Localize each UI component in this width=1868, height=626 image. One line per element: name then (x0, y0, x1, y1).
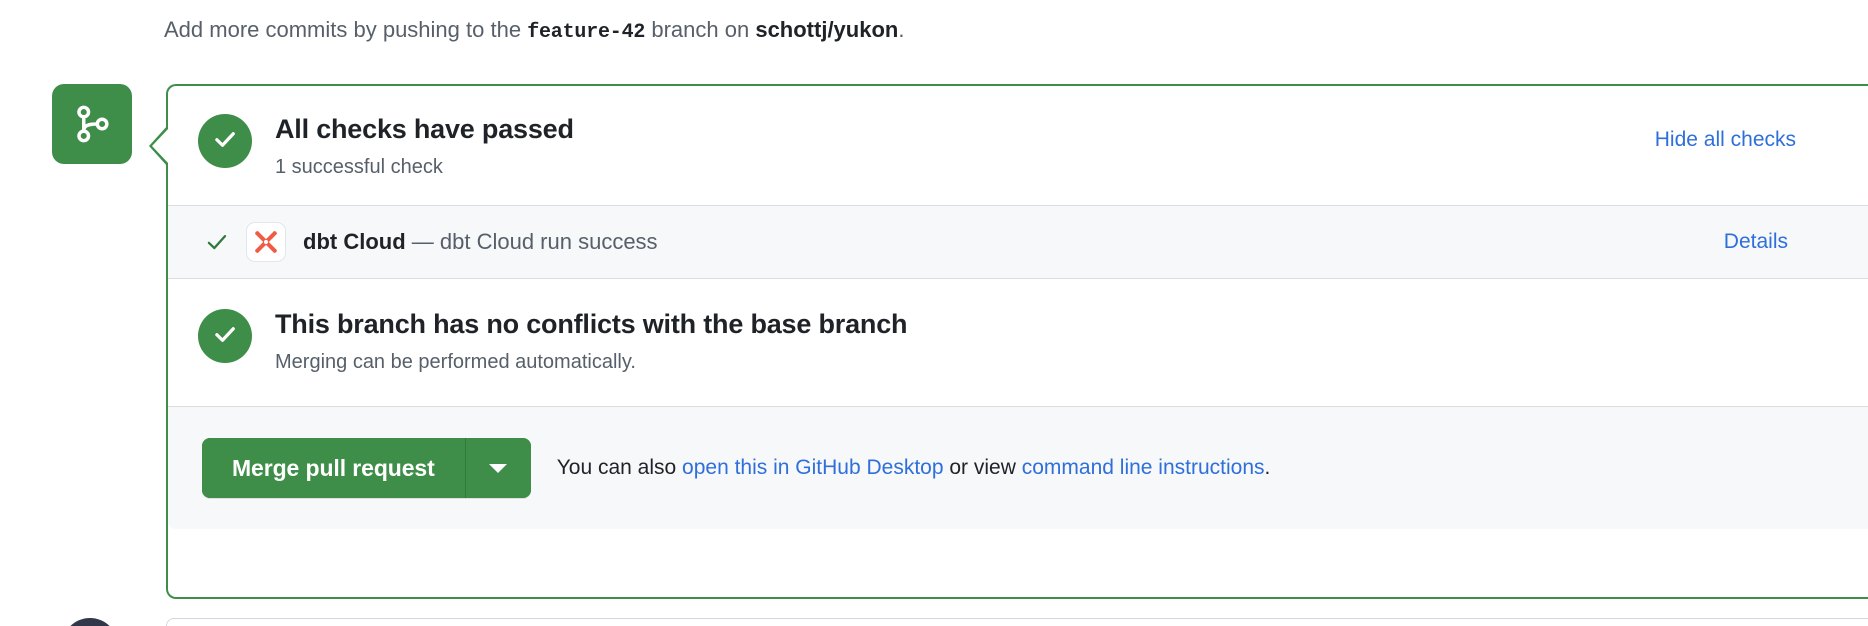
conflicts-text-block: This branch has no conflicts with the ba… (275, 307, 907, 376)
git-merge-icon (70, 102, 114, 146)
hide-all-checks-link[interactable]: Hide all checks (1655, 128, 1796, 152)
no-conflicts-section: This branch has no conflicts with the ba… (168, 279, 1868, 406)
footer-note-middle: or view (949, 456, 1016, 479)
checks-success-circle (198, 114, 252, 168)
check-icon (210, 319, 240, 354)
push-hint-middle: branch on (651, 17, 749, 42)
conflicts-subtitle: Merging can be performed automatically. (275, 349, 907, 376)
callout-arrow-fill (152, 128, 169, 164)
merge-action-footer: Merge pull request You can also open thi… (168, 407, 1868, 529)
next-timeline-panel (166, 618, 1868, 626)
check-separator: — (412, 229, 434, 254)
branch-name: feature-42 (527, 21, 645, 44)
checks-title: All checks have passed (275, 112, 574, 146)
pull-request-merge-box-page: Add more commits by pushing to the featu… (0, 0, 1868, 626)
conflicts-title: This branch has no conflicts with the ba… (275, 307, 907, 341)
check-row[interactable]: dbt Cloud — dbt Cloud run success Detail… (168, 206, 1868, 278)
merge-button-group: Merge pull request (202, 438, 531, 498)
check-icon (204, 229, 230, 255)
open-in-github-desktop-link[interactable]: open this in GitHub Desktop (682, 456, 943, 479)
check-context-name: dbt Cloud (303, 229, 406, 254)
merge-footer-note: You can also open this in GitHub Desktop… (557, 454, 1271, 482)
avatar[interactable] (62, 618, 118, 626)
conflicts-success-circle (198, 309, 252, 363)
push-hint-suffix: . (898, 17, 904, 42)
merge-dropdown-button[interactable] (465, 438, 531, 498)
dbt-cloud-icon (247, 223, 285, 261)
merge-status-box: All checks have passed 1 successful chec… (166, 84, 1868, 599)
git-merge-state-icon (52, 84, 132, 164)
checks-subtitle: 1 successful check (275, 154, 574, 181)
check-details-link[interactable]: Details (1724, 230, 1788, 254)
footer-note-prefix: You can also (557, 456, 677, 479)
command-line-instructions-link[interactable]: command line instructions (1022, 456, 1265, 479)
push-more-commits-hint: Add more commits by pushing to the featu… (164, 15, 904, 48)
all-checks-header: All checks have passed 1 successful chec… (168, 86, 1868, 205)
check-description: dbt Cloud run success (440, 229, 658, 254)
push-hint-prefix: Add more commits by pushing to the (164, 17, 521, 42)
footer-note-suffix: . (1265, 456, 1271, 479)
repository-name: schottj/yukon (755, 17, 898, 42)
check-icon (210, 124, 240, 159)
check-row-text: dbt Cloud — dbt Cloud run success (303, 228, 658, 256)
merge-pull-request-button[interactable]: Merge pull request (202, 438, 465, 498)
checks-text-block: All checks have passed 1 successful chec… (275, 112, 574, 181)
chevron-down-icon (489, 464, 507, 473)
